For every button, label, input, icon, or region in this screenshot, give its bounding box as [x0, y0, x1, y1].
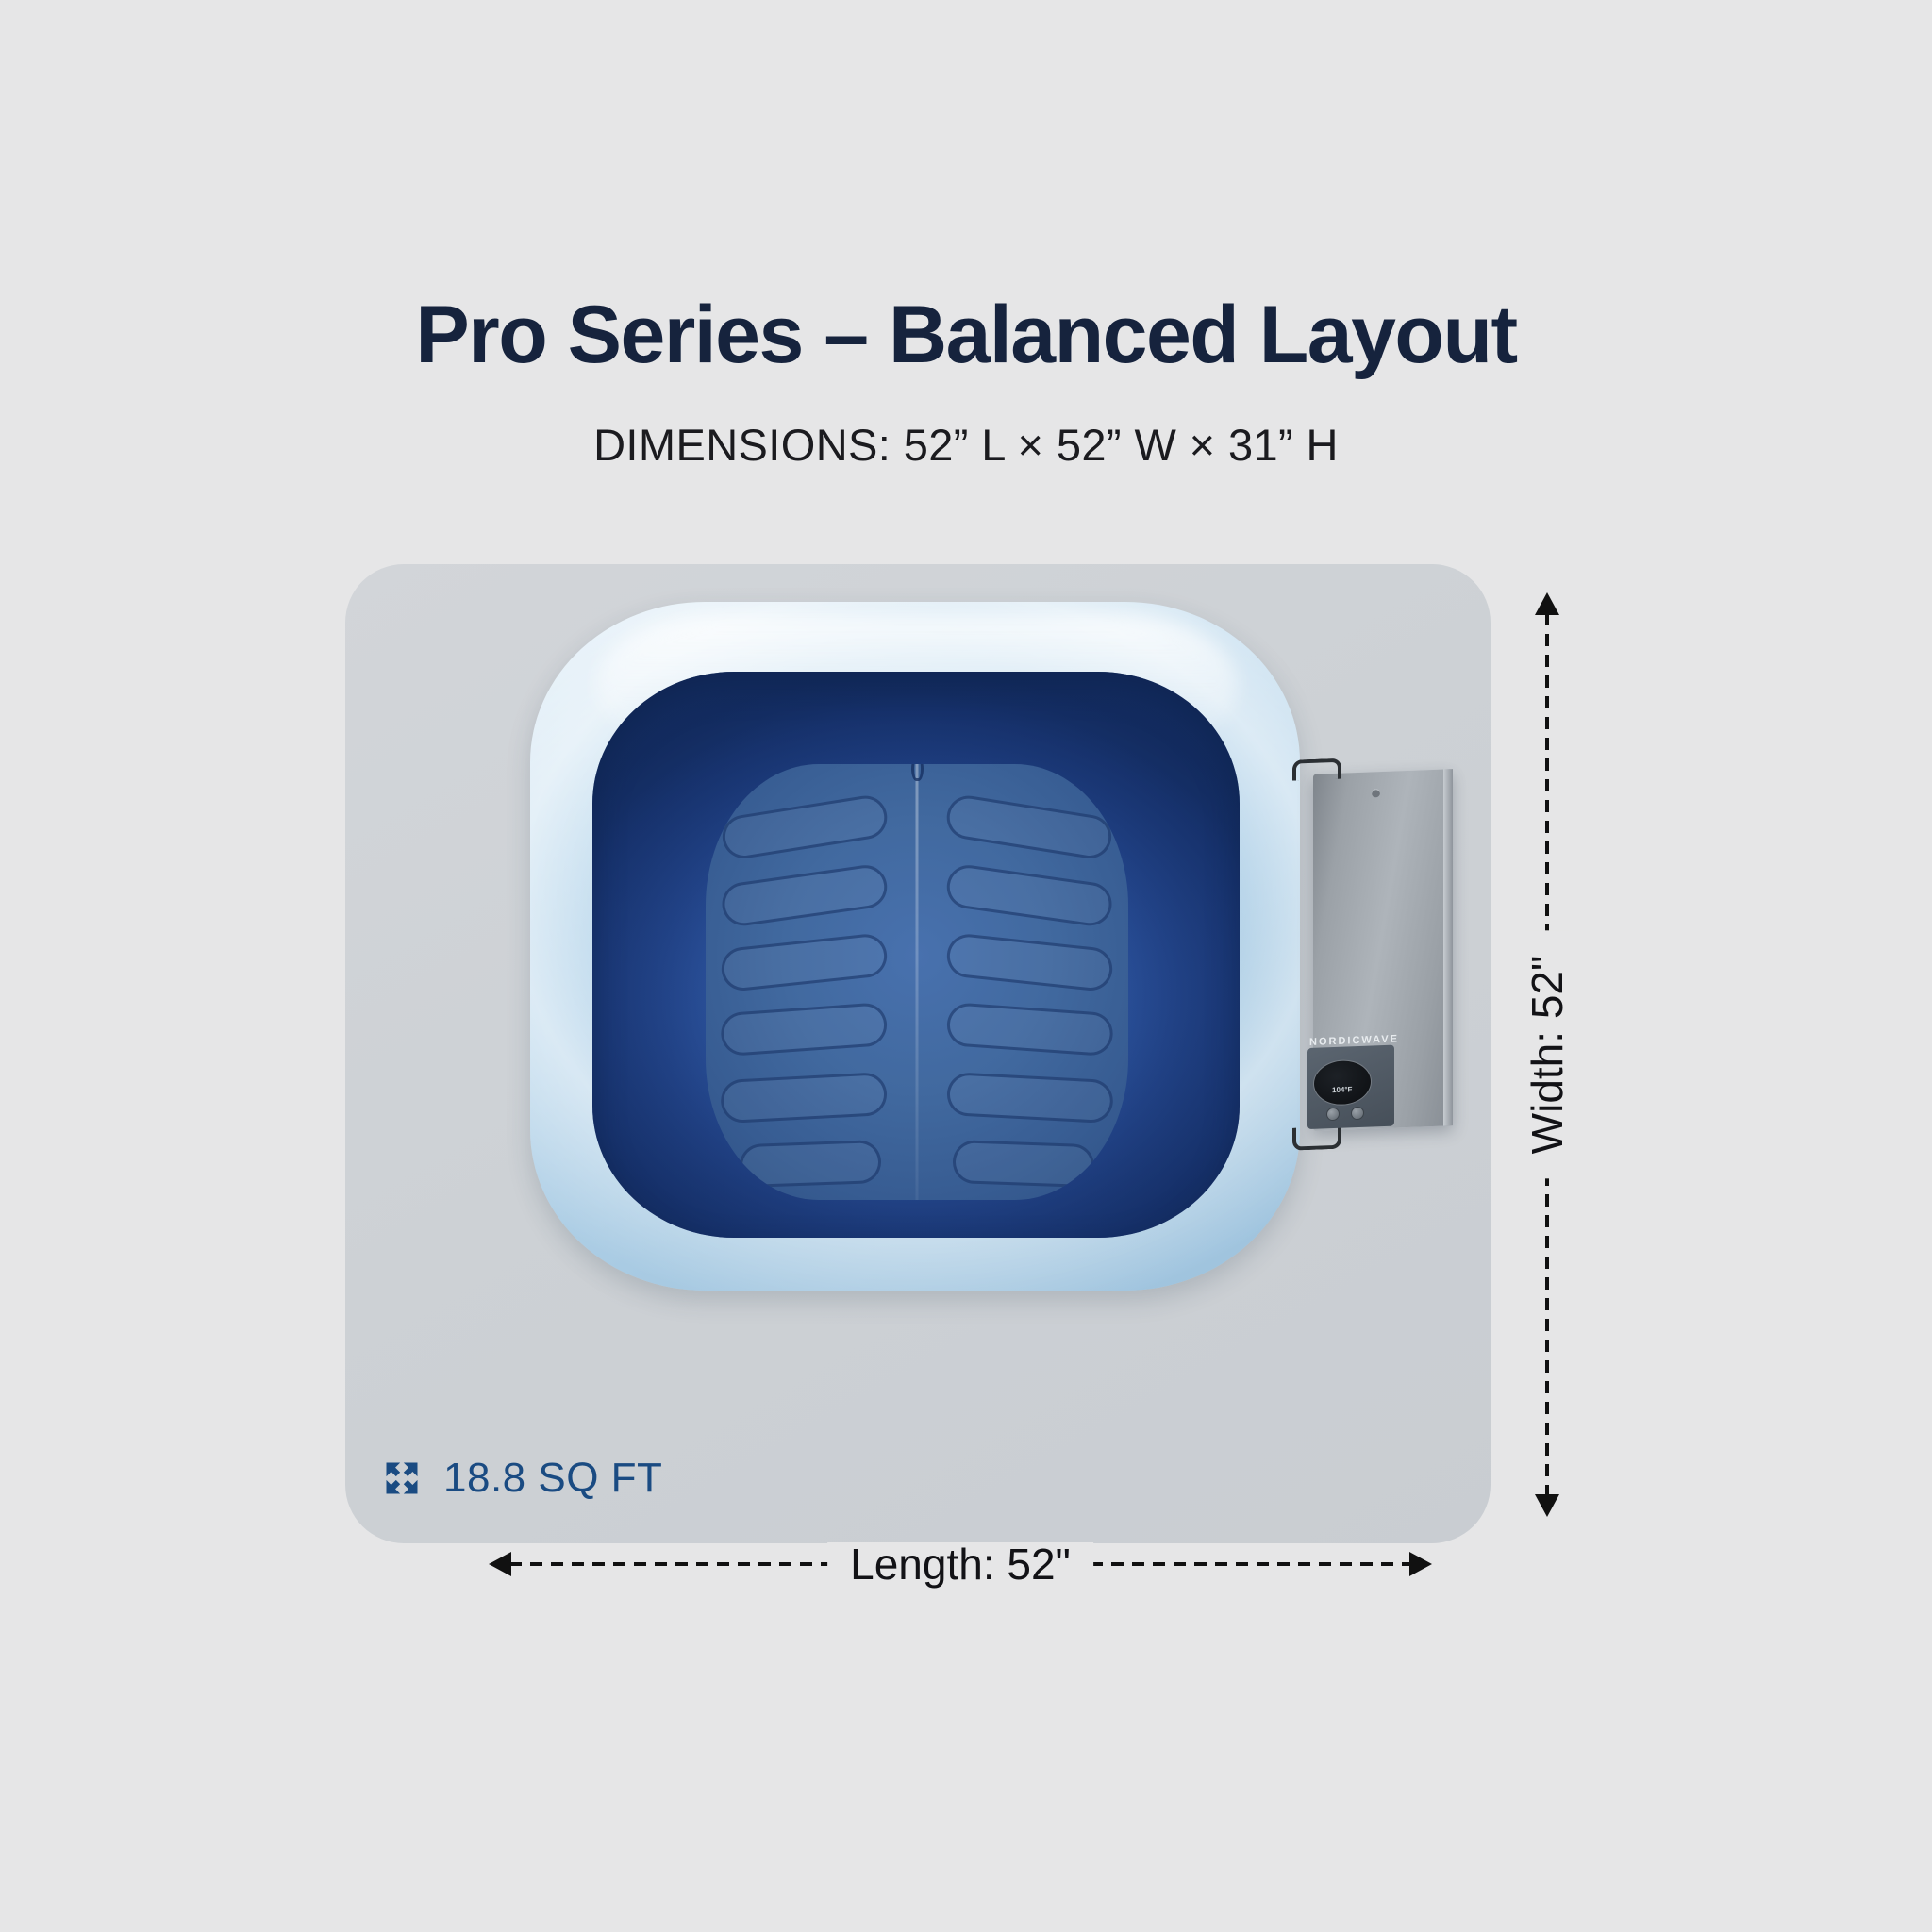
power-button[interactable] [1351, 1107, 1364, 1121]
dimensions-subtitle: DIMENSIONS: 52” L × 52” W × 31” H [0, 423, 1932, 467]
layout-diagram-canvas: Pro Series – Balanced Layout DIMENSIONS:… [0, 0, 1932, 1932]
floor-rib [720, 1002, 889, 1057]
arrow-down-icon [1535, 1494, 1559, 1517]
floor-rib [945, 1002, 1114, 1057]
control-unit-edge [1443, 769, 1453, 1125]
temperature-readout: 104°F [1332, 1085, 1352, 1094]
tub-floor-pad [706, 764, 1128, 1200]
floor-rib [720, 792, 891, 861]
mode-button[interactable] [1326, 1108, 1340, 1122]
footprint-panel: 104°F NORDICWAVE 18.8 SQ FT [345, 564, 1491, 1543]
page-title: Pro Series – Balanced Layout [0, 294, 1932, 375]
arrow-up-icon [1535, 592, 1559, 615]
drain-icon [911, 764, 924, 781]
control-unit-faceplate: 104°F [1307, 1045, 1394, 1130]
square-footage-badge: 18.8 SQ FT [381, 1457, 662, 1499]
floor-rib [944, 862, 1115, 928]
floor-rib [739, 1140, 882, 1188]
width-dimension-arrow: Width: 52" [1545, 592, 1549, 1517]
width-dimension-label: Width: 52" [1525, 931, 1569, 1179]
floor-rib [720, 932, 890, 992]
floor-rib [945, 932, 1115, 992]
arrow-right-icon [1409, 1552, 1432, 1576]
floor-rib [946, 1072, 1114, 1124]
floor-rib [720, 1072, 888, 1124]
hot-tub-illustration [491, 566, 1340, 1321]
floor-rib [720, 862, 891, 928]
length-dimension-label: Length: 52" [827, 1542, 1093, 1586]
arrow-left-icon [489, 1552, 511, 1576]
floor-center-spine [916, 764, 919, 1200]
mount-bracket-top [1292, 758, 1341, 781]
control-unit: 104°F NORDICWAVE [1313, 769, 1453, 1131]
floor-rib [952, 1140, 1095, 1188]
control-dial[interactable] [1313, 1058, 1372, 1106]
expand-arrows-icon [381, 1457, 423, 1499]
length-dimension-arrow: Length: 52" [489, 1562, 1432, 1566]
mount-bracket-bottom [1292, 1126, 1341, 1151]
square-footage-value: 18.8 SQ FT [443, 1457, 662, 1499]
floor-rib [943, 792, 1114, 861]
